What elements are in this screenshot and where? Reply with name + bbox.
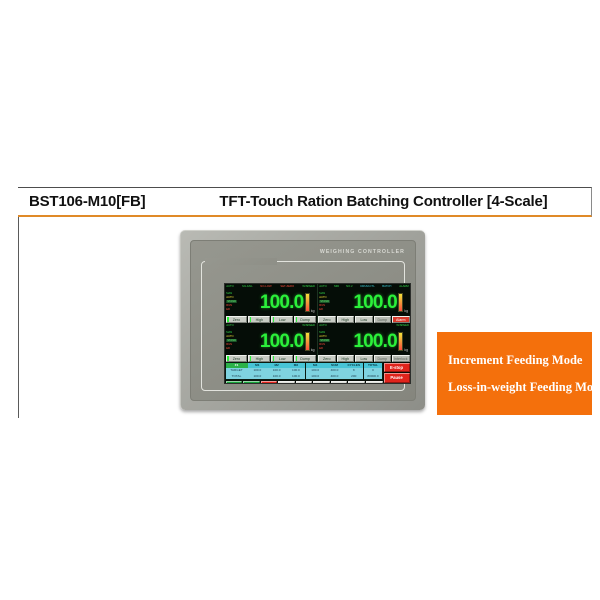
clear-button[interactable]: Clear [296,381,313,384]
scale-1-weight: 100.0 [260,293,304,312]
scale-4-btn-dump[interactable]: Dump [374,355,392,362]
auto-button[interactable]: Auto [226,381,243,384]
scale-row-bottom: AUTO W/SPEED MAN AUTO STAND RUN ER 1 [225,323,410,362]
menu-button[interactable]: Menu [348,381,365,384]
last-button[interactable]: Last [261,381,278,384]
table-cell: 100.0 [248,374,267,380]
table-cell: 100.0 [267,374,286,380]
device-shell: WEIGHING CONTROLLER AUTO M1-FAIL NO-LOW … [180,230,425,410]
batch-table: F1 M1 M2 M3 M4 SUM CYCLES TOTAL TARGET [225,362,383,380]
scale-4-readout: MAN AUTO STAND RUN ER 100.0 kg [318,328,411,354]
scale-1-side-tags: MAN AUTO STAND RUN ER [226,289,237,315]
scale-2-readout: MAN AUTO STAND RUN ER 100.0 kg [318,289,411,315]
main-button-bar: Auto Start Last Mat. Clear Print Lock Me… [225,380,383,384]
table-cell: 400.0 [325,374,344,380]
lock-button[interactable]: Lock [331,381,348,384]
user-button-label: User [370,383,379,384]
estop-button[interactable]: E-stop [384,363,410,373]
scale-2-btn-dump[interactable]: Dump [374,316,392,323]
scale-2-btn-zero[interactable]: Zero [318,316,336,323]
feeding-mode-callout: Increment Feeding Mode Loss-in-weight Fe… [437,332,592,415]
table-row-label: TOTAL [226,374,248,380]
scale-4-btn-low[interactable]: Low [355,355,373,362]
brand-label: WEIGHING CONTROLLER [320,249,405,255]
scale-3-btn-zero[interactable]: Zero [226,355,248,362]
scale-4-side-tags: MAN AUTO STAND RUN ER [319,328,330,354]
lcd-bottom-section: F1 M1 M2 M3 M4 SUM CYCLES TOTAL TARGET [225,362,410,383]
scale-3-side-er: ER [226,347,237,350]
scale-4-side-er: ER [319,347,330,350]
scale-4-bargraph-icon [398,332,403,351]
device-notch [205,258,277,265]
scale-3-btn-dump[interactable]: Dump [294,355,316,362]
product-header: BST106-M10[FB] TFT-Touch Ration Batching… [18,187,592,217]
material-button[interactable]: Mat. [278,381,295,384]
scale-3-btn-high[interactable]: High [248,355,270,362]
increment-feeding-mode-label: Increment Feeding Mode [448,354,592,367]
scale-panel-3[interactable]: AUTO W/SPEED MAN AUTO STAND RUN ER 1 [225,323,318,362]
scale-1-btn-low[interactable]: Low [271,316,293,323]
scale-1-btn-high[interactable]: High [248,316,270,323]
scale-4-btn-zero[interactable]: Zero [318,355,336,362]
loss-in-weight-feeding-mode-label: Loss-in-weight Feeding Mode [448,381,592,394]
scale-3-side-tags: MAN AUTO STAND RUN ER [226,328,237,354]
table-row: TOTAL 100.0 100.0 100.0 100.0 400.0 200 … [226,374,383,380]
table-cell: 80000.0 [364,374,383,380]
scale-2-buttons: Zero High Low Dump Alarm [318,315,411,323]
scale-1-readout: MAN AUTO STAND RUN ER 100.0 kg [225,289,317,315]
table-cell: 100.0 [286,374,305,380]
device-bezel: WEIGHING CONTROLLER AUTO M1-FAIL NO-LOW … [190,240,416,401]
scale-3-bargraph-icon [305,332,310,351]
model-code: BST106-M10[FB] [29,193,145,210]
print-status-icon [315,383,317,384]
scale-3-btn-low[interactable]: Low [271,355,293,362]
scale-4-buttons: Zero High Low Dump Interlock [318,354,411,362]
scale-panel-2[interactable]: AUTO MID NO.2 DRUM-CTL BATCH ALARM MAN A… [318,284,411,323]
scale-2-side-tags: MAN AUTO STAND RUN ER [319,289,330,315]
lock-status-icon [333,383,335,384]
scale-3-readout: MAN AUTO STAND RUN ER 100.0 kg [225,328,317,354]
user-button[interactable]: UserEnabled [366,381,383,384]
scale-2-btn-low[interactable]: Low [355,316,373,323]
scale-1-buttons: Zero High Low Dump [225,315,317,323]
scale-2-bargraph-icon [398,293,403,312]
table-cell: 100.0 [306,374,325,380]
scale-1-btn-dump[interactable]: Dump [294,316,316,323]
emergency-button-stack: E-stop Pause [383,362,410,383]
scale-2-side-er: ER [319,308,330,311]
scale-row-top: AUTO M1-FAIL NO-LOW SET-ZERO W/SPEED MAN… [225,284,410,323]
scale-3-buttons: Zero High Low Dump [225,354,317,362]
scale-4-btn-high[interactable]: High [337,355,355,362]
scale-1-unit: kg [311,309,315,313]
start-button[interactable]: Start [243,381,260,384]
print-button[interactable]: Print [313,381,330,384]
device-image: WEIGHING CONTROLLER AUTO M1-FAIL NO-LOW … [180,230,425,410]
scale-2-unit: kg [404,309,408,313]
pause-button[interactable]: Pause [384,373,410,383]
table-cell: 200 [344,374,363,380]
scale-4-weight: 100.0 [353,332,397,351]
scale-3-unit: kg [311,348,315,352]
scale-panel-4[interactable]: AUTO W/SPEED MAN AUTO STAND RUN ER 1 [318,323,411,362]
scale-4-btn-interlock[interactable]: Interlock [392,355,410,362]
scale-panel-1[interactable]: AUTO M1-FAIL NO-LOW SET-ZERO W/SPEED MAN… [225,284,318,323]
scale-4-unit: kg [404,348,408,352]
scale-1-side-er: ER [226,308,237,311]
scale-2-btn-high[interactable]: High [337,316,355,323]
scale-1-btn-zero[interactable]: Zero [226,316,248,323]
page-title: TFT-Touch Ration Batching Controller [4-… [219,193,547,210]
scale-1-bargraph-icon [305,293,310,312]
scale-2-weight: 100.0 [353,293,397,312]
lcd-screen[interactable]: AUTO M1-FAIL NO-LOW SET-ZERO W/SPEED MAN… [224,283,411,384]
lcd-bottom-left: F1 M1 M2 M3 M4 SUM CYCLES TOTAL TARGET [225,362,383,383]
scale-2-btn-alarm[interactable]: Alarm [392,316,410,323]
scale-3-weight: 100.0 [260,332,304,351]
